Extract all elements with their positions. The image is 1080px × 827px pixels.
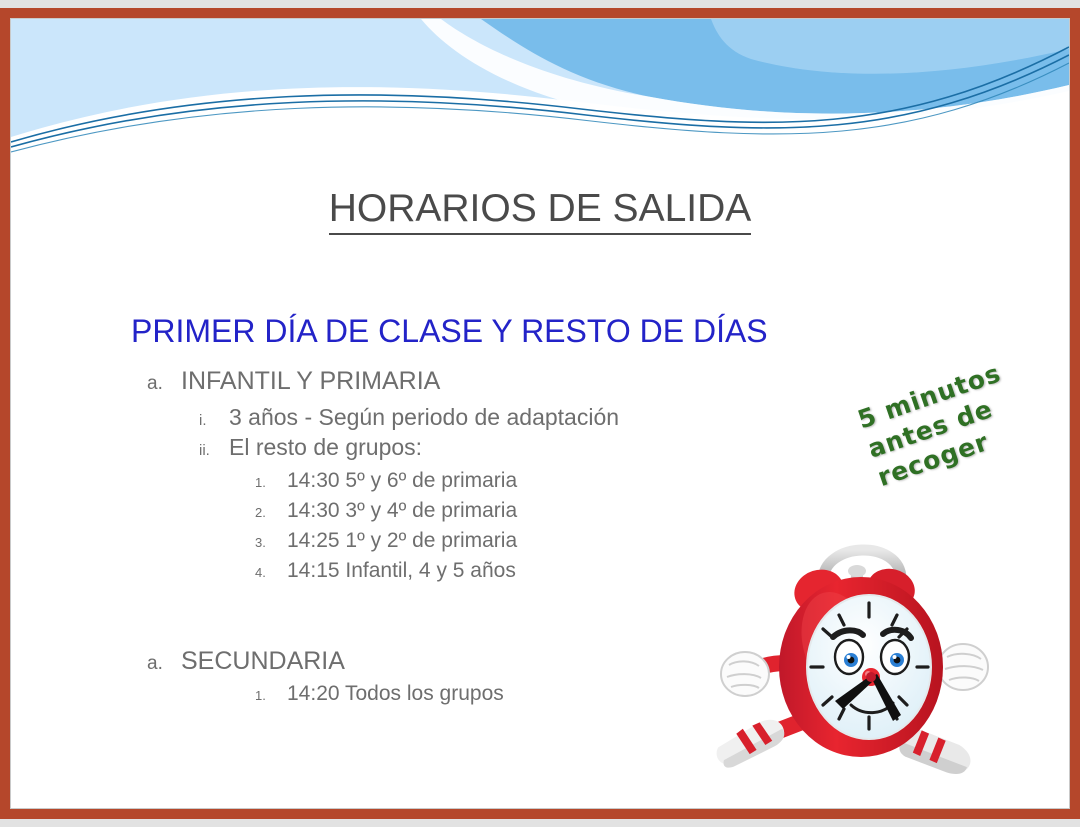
callout-5-minutos-antes: 5 minutos antes de recoger xyxy=(854,342,1070,494)
list-marker: 3. xyxy=(255,535,287,550)
list-item-label: 14:30 3º y 4º de primaria xyxy=(287,499,517,523)
list-marker: a. xyxy=(147,653,181,675)
list-item-infantil-y-primaria: a. INFANTIL Y PRIMARIA xyxy=(147,367,440,396)
list-item-label: 14:15 Infantil, 4 y 5 años xyxy=(287,559,516,583)
slide-canvas: HORARIOS DE SALIDA PRIMER DÍA DE CLASE Y… xyxy=(10,18,1070,809)
list-item-label: INFANTIL Y PRIMARIA xyxy=(181,367,440,396)
list-item-label: 14:20 Todos los grupos xyxy=(287,682,504,706)
section-heading-primer-dia: PRIMER DÍA DE CLASE Y RESTO DE DÍAS xyxy=(131,313,768,350)
list-item-el-resto-de-grupos: ii. El resto de grupos: xyxy=(199,434,422,461)
page-title: HORARIOS DE SALIDA xyxy=(11,187,1069,231)
list-item-label: 3 años - Según periodo de adaptación xyxy=(229,404,619,431)
running-alarm-clock-icon xyxy=(711,519,1001,789)
list-marker: ii. xyxy=(199,442,229,459)
list-item-time-1430-5-6: 1. 14:30 5º y 6º de primaria xyxy=(255,469,517,493)
list-item-label: El resto de grupos: xyxy=(229,434,422,461)
list-item-label: 14:30 5º y 6º de primaria xyxy=(287,469,517,493)
list-item-label: SECUNDARIA xyxy=(181,647,345,676)
list-item-time-1430-3-4: 2. 14:30 3º y 4º de primaria xyxy=(255,499,517,523)
page-title-text: HORARIOS DE SALIDA xyxy=(329,187,752,235)
slide-frame: HORARIOS DE SALIDA PRIMER DÍA DE CLASE Y… xyxy=(0,8,1080,819)
list-marker: 1. xyxy=(255,688,287,703)
list-marker: 2. xyxy=(255,505,287,520)
list-item-time-1425-1-2: 3. 14:25 1º y 2º de primaria xyxy=(255,529,517,553)
list-item-time-1415-infantil: 4. 14:15 Infantil, 4 y 5 años xyxy=(255,559,516,583)
list-item-time-1420-todos: 1. 14:20 Todos los grupos xyxy=(255,682,504,706)
list-marker: a. xyxy=(147,373,181,395)
list-marker: 1. xyxy=(255,475,287,490)
list-item-secundaria: a. SECUNDARIA xyxy=(147,647,345,676)
list-marker: 4. xyxy=(255,565,287,580)
slide-content: HORARIOS DE SALIDA PRIMER DÍA DE CLASE Y… xyxy=(11,19,1069,808)
list-item-label: 14:25 1º y 2º de primaria xyxy=(287,529,517,553)
list-marker: i. xyxy=(199,412,229,429)
list-item-3-anos: i. 3 años - Según periodo de adaptación xyxy=(199,404,619,431)
